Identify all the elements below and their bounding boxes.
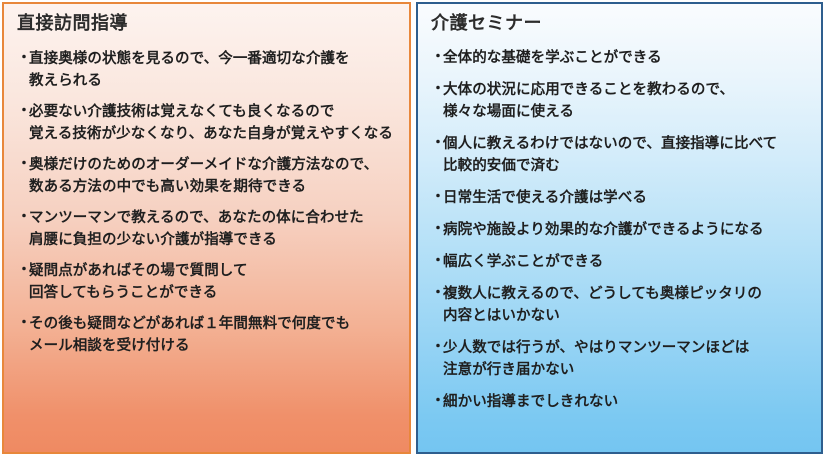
- bullet-mark-icon: ・: [431, 251, 443, 272]
- list-item-line: 内容とはいかない: [443, 305, 811, 327]
- list-item: ・ 病院や施設より効果的な介護ができるようになる: [418, 219, 821, 241]
- list-item-line: 数ある方法の中でも高い効果を期待できる: [29, 176, 399, 198]
- list-item-line: 必要ない介護技術は覚えなくても良くなるので: [29, 101, 399, 123]
- bullet-mark-icon: ・: [17, 154, 29, 175]
- list-item-line: 注意が行き届かない: [443, 359, 811, 381]
- list-item-line: 少人数では行うが、やはりマンツーマンほどは: [443, 337, 811, 359]
- list-item-line: 比較的安価で済む: [443, 155, 811, 177]
- bullet-mark-icon: ・: [431, 187, 443, 208]
- list-item-line: 全体的な基礎を学ぶことができる: [443, 47, 811, 69]
- bullet-mark-icon: ・: [17, 207, 29, 228]
- panel-direct-visit-guidance: 直接訪問指導 ・ 直接奥様の状態を見るので、今一番適切な介護を 教えられる ・ …: [2, 2, 411, 454]
- list-item-line: 疑問点があればその場で質問して: [29, 260, 399, 282]
- list-item: ・ 幅広く学ぶことができる: [418, 251, 821, 273]
- list-item: ・ 直接奥様の状態を見るので、今一番適切な介護を 教えられる: [4, 48, 409, 92]
- list-item: ・ 細かい指導までしきれない: [418, 391, 821, 413]
- bullet-mark-icon: ・: [431, 337, 443, 358]
- list-item-text: 直接奥様の状態を見るので、今一番適切な介護を 教えられる: [29, 48, 399, 92]
- list-item-text: 細かい指導までしきれない: [443, 391, 811, 413]
- list-item-text: 奥様だけのためのオーダーメイドな介護方法なので、 数ある方法の中でも高い効果を期…: [29, 154, 399, 198]
- bullet-mark-icon: ・: [17, 48, 29, 69]
- list-item-line: 回答してもらうことができる: [29, 282, 399, 304]
- bullet-mark-icon: ・: [431, 219, 443, 240]
- list-item-text: マンツーマンで教えるので、あなたの体に合わせた 肩腰に負担の少ない介護が指導でき…: [29, 207, 399, 251]
- panel-title-right: 介護セミナー: [431, 13, 821, 36]
- list-item: ・ 少人数では行うが、やはりマンツーマンほどは 注意が行き届かない: [418, 337, 821, 381]
- bullet-mark-icon: ・: [17, 260, 29, 281]
- bullet-mark-icon: ・: [431, 133, 443, 154]
- comparison-slide: 直接訪問指導 ・ 直接奥様の状態を見るので、今一番適切な介護を 教えられる ・ …: [0, 0, 825, 458]
- list-item-line: 個人に教えるわけではないので、直接指導に比べて: [443, 133, 811, 155]
- list-item-text: 複数人に教えるので、どうしても奥様ピッタリの 内容とはいかない: [443, 283, 811, 327]
- list-item-line: 奥様だけのためのオーダーメイドな介護方法なので、: [29, 154, 399, 176]
- list-item-text: 日常生活で使える介護は学べる: [443, 187, 811, 209]
- list-item: ・ マンツーマンで教えるので、あなたの体に合わせた 肩腰に負担の少ない介護が指導…: [4, 207, 409, 251]
- panel-caregiving-seminar: 介護セミナー ・ 全体的な基礎を学ぶことができる ・ 大体の状況に応用できること…: [416, 2, 823, 454]
- list-item-line: その後も疑問などがあれば１年間無料で何度でも: [29, 313, 399, 335]
- bullet-mark-icon: ・: [431, 79, 443, 100]
- list-item-text: 病院や施設より効果的な介護ができるようになる: [443, 219, 811, 241]
- list-item-text: 全体的な基礎を学ぶことができる: [443, 47, 811, 69]
- list-item: ・ その後も疑問などがあれば１年間無料で何度でも メール相談を受け付ける: [4, 313, 409, 357]
- list-item-text: 大体の状況に応用できることを教わるので、 様々な場面に使える: [443, 79, 811, 123]
- list-item: ・ 疑問点があればその場で質問して 回答してもらうことができる: [4, 260, 409, 304]
- list-item: ・ 必要ない介護技術は覚えなくても良くなるので 覚える技術が少なくなり、あなた自…: [4, 101, 409, 145]
- list-item-text: 必要ない介護技術は覚えなくても良くなるので 覚える技術が少なくなり、あなた自身が…: [29, 101, 399, 145]
- list-item: ・ 奥様だけのためのオーダーメイドな介護方法なので、 数ある方法の中でも高い効果…: [4, 154, 409, 198]
- list-item-text: 幅広く学ぶことができる: [443, 251, 811, 273]
- bullet-mark-icon: ・: [431, 391, 443, 412]
- list-item-line: メール相談を受け付ける: [29, 335, 399, 357]
- list-item-line: 教えられる: [29, 70, 399, 92]
- list-item: ・ 複数人に教えるので、どうしても奥様ピッタリの 内容とはいかない: [418, 283, 821, 327]
- list-item-text: その後も疑問などがあれば１年間無料で何度でも メール相談を受け付ける: [29, 313, 399, 357]
- list-item-line: 幅広く学ぶことができる: [443, 251, 811, 273]
- list-item: ・ 全体的な基礎を学ぶことができる: [418, 47, 821, 69]
- list-item-line: マンツーマンで教えるので、あなたの体に合わせた: [29, 207, 399, 229]
- list-item-line: 複数人に教えるので、どうしても奥様ピッタリの: [443, 283, 811, 305]
- list-item-text: 個人に教えるわけではないので、直接指導に比べて 比較的安価で済む: [443, 133, 811, 177]
- bullet-list-left: ・ 直接奥様の状態を見るので、今一番適切な介護を 教えられる ・ 必要ない介護技…: [4, 48, 409, 357]
- list-item-line: 日常生活で使える介護は学べる: [443, 187, 811, 209]
- bullet-mark-icon: ・: [431, 283, 443, 304]
- bullet-mark-icon: ・: [17, 313, 29, 334]
- list-item: ・ 大体の状況に応用できることを教わるので、 様々な場面に使える: [418, 79, 821, 123]
- list-item-line: 細かい指導までしきれない: [443, 391, 811, 413]
- list-item-text: 少人数では行うが、やはりマンツーマンほどは 注意が行き届かない: [443, 337, 811, 381]
- list-item-line: 肩腰に負担の少ない介護が指導できる: [29, 229, 399, 251]
- list-item: ・ 日常生活で使える介護は学べる: [418, 187, 821, 209]
- list-item-line: 様々な場面に使える: [443, 101, 811, 123]
- list-item-line: 病院や施設より効果的な介護ができるようになる: [443, 219, 811, 241]
- list-item-line: 大体の状況に応用できることを教わるので、: [443, 79, 811, 101]
- list-item-line: 覚える技術が少なくなり、あなた自身が覚えやすくなる: [29, 123, 399, 145]
- bullet-mark-icon: ・: [17, 101, 29, 122]
- list-item-line: 直接奥様の状態を見るので、今一番適切な介護を: [29, 48, 399, 70]
- panel-title-left: 直接訪問指導: [17, 13, 409, 36]
- bullet-list-right: ・ 全体的な基礎を学ぶことができる ・ 大体の状況に応用できることを教わるので、…: [418, 47, 821, 413]
- list-item-text: 疑問点があればその場で質問して 回答してもらうことができる: [29, 260, 399, 304]
- bullet-mark-icon: ・: [431, 47, 443, 68]
- list-item: ・ 個人に教えるわけではないので、直接指導に比べて 比較的安価で済む: [418, 133, 821, 177]
